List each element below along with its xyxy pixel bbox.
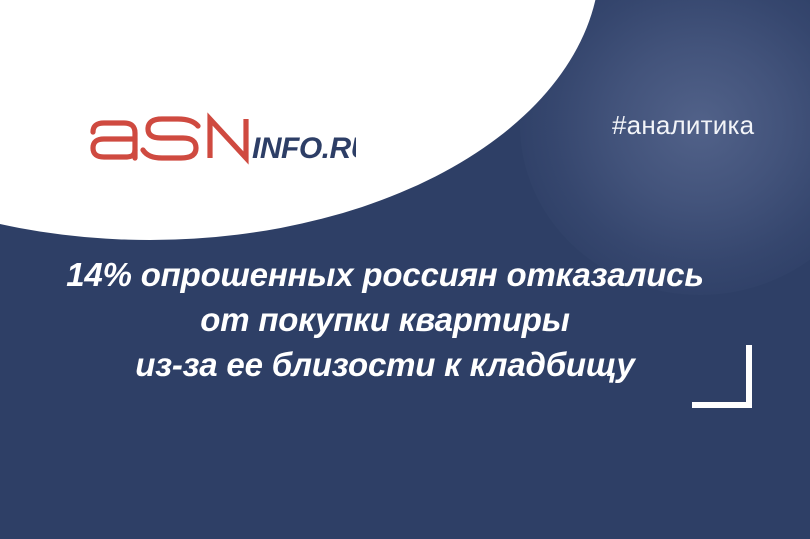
asninfo-logo-svg: INFO.RU — [86, 112, 356, 172]
asninfo-logo[interactable]: INFO.RU — [86, 112, 356, 172]
corner-bracket-vertical-bar — [746, 345, 752, 408]
headline-text: 14% опрошенных россиян отказались от пок… — [0, 252, 770, 387]
hashtag-label: #аналитика — [612, 110, 754, 141]
headline-line-2: от покупки квартиры — [0, 297, 770, 342]
corner-bracket-decoration — [692, 345, 752, 408]
logo-letter-n — [210, 119, 246, 158]
infographic-card: INFO.RU #аналитика 14% опрошенных россия… — [0, 0, 810, 539]
headline-line-1: 14% опрошенных россиян отказались — [0, 252, 770, 297]
logo-suffix-text: INFO.RU — [252, 132, 356, 165]
logo-letter-a — [93, 123, 135, 158]
headline-line-3: из-за ее близости к кладбищу — [0, 342, 770, 387]
logo-letter-s — [143, 119, 198, 158]
corner-bracket-horizontal-bar — [692, 402, 752, 408]
